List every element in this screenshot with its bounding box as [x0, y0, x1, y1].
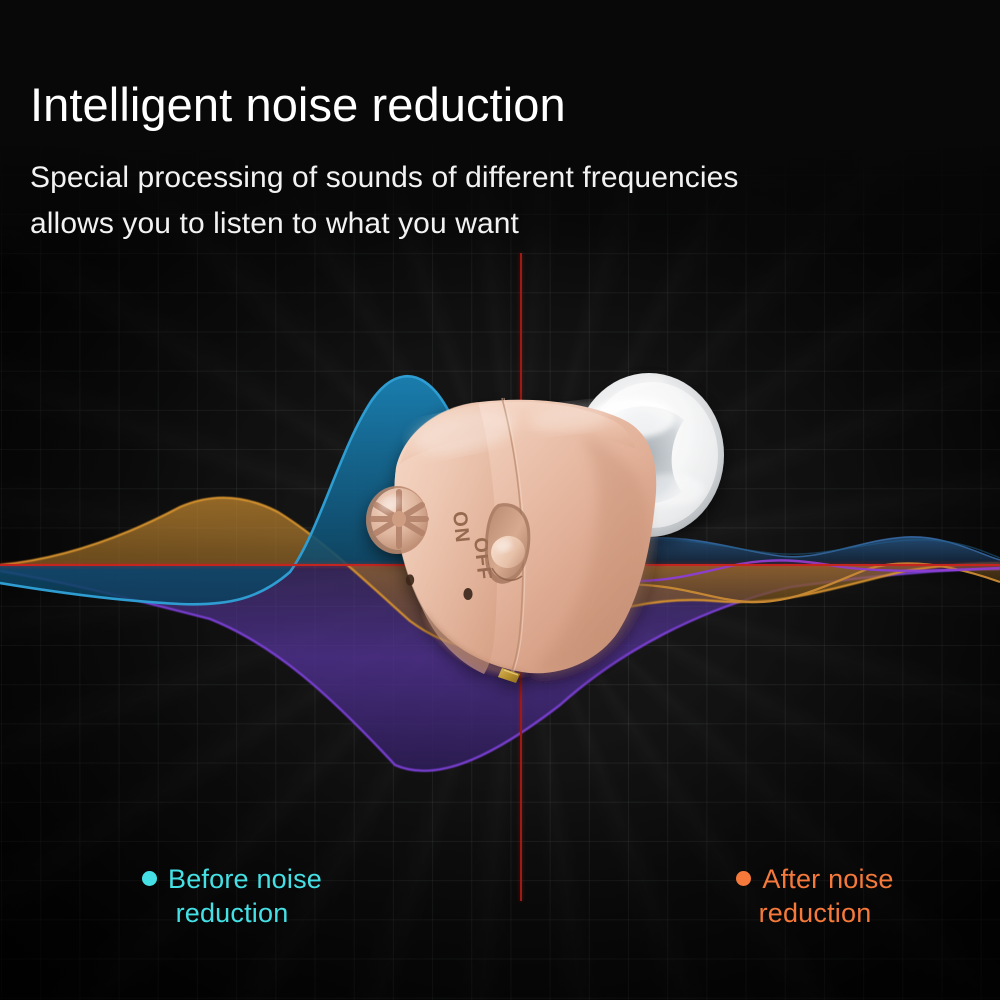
legend-after-noise-reduction: After noise reduction [690, 862, 940, 930]
product-banner: Intelligent noise reduction Special proc… [0, 0, 1000, 1000]
legend-after-line-2: reduction [690, 896, 940, 930]
subtitle-line-1: Special processing of sounds of differen… [30, 155, 739, 201]
legend-before-line-2: reduction [92, 896, 372, 930]
legend-after-line-1: After noise [690, 862, 940, 896]
page-title: Intelligent noise reduction [30, 78, 566, 132]
microphone-port-1 [406, 574, 414, 585]
hearing-aid-device: ON OFF [352, 340, 752, 720]
volume-wheel[interactable] [366, 486, 428, 554]
legend-dot-orange-icon [736, 871, 751, 886]
subtitle-line-2: allows you to listen to what you want [30, 201, 739, 247]
page-subtitle: Special processing of sounds of differen… [30, 155, 739, 247]
legend-before-text-1: Before noise [168, 864, 322, 894]
legend-after-text-1: After noise [762, 864, 893, 894]
legend-before-line-1: Before noise [92, 862, 372, 896]
legend-dot-cyan-icon [142, 871, 157, 886]
legend-before-noise-reduction: Before noise reduction [92, 862, 372, 930]
microphone-port-2 [463, 588, 472, 600]
